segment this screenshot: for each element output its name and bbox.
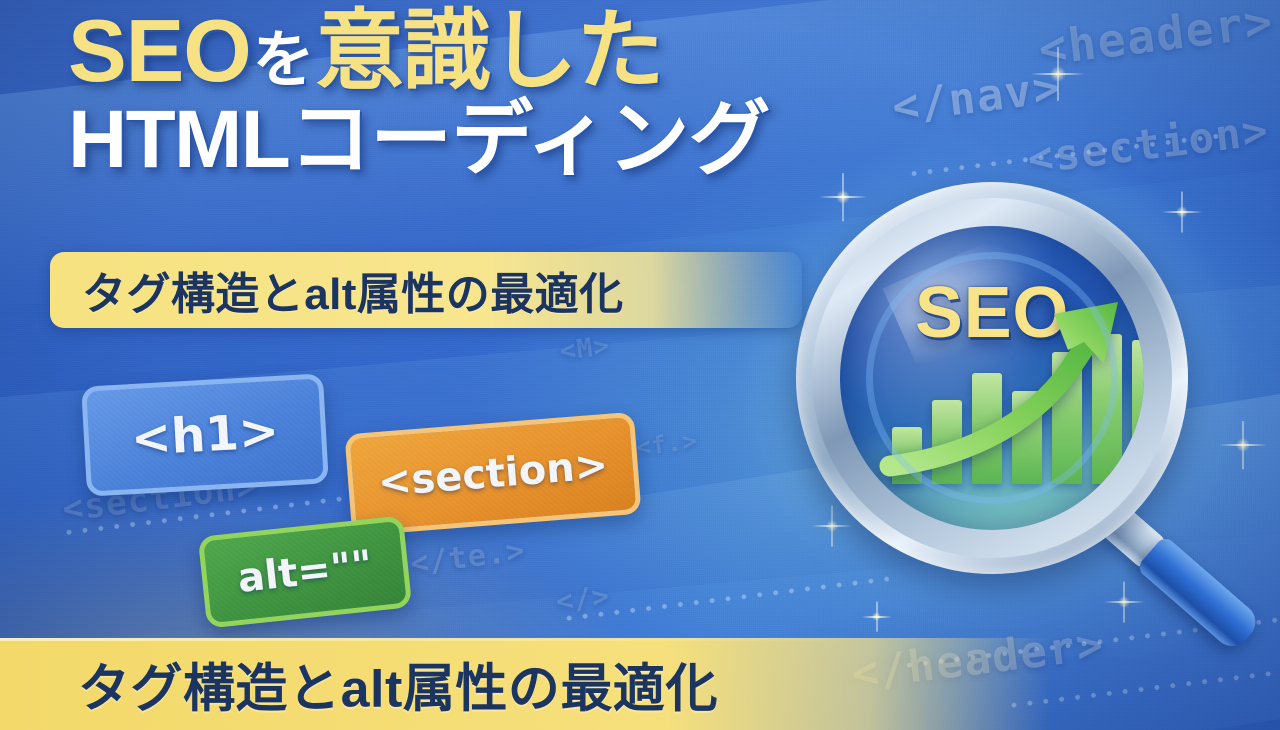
headline-line-1: SEOを意識した — [68, 8, 888, 94]
headline-line1-seo: SEO — [68, 1, 251, 100]
bottom-banner: タグ構造とalt属性の最適化 — [0, 638, 1280, 730]
tag-chip-h1-label: <h1> — [130, 403, 281, 467]
subtitle-banner: タグ構造とalt属性の最適化 — [50, 252, 802, 328]
headline-block: SEOを意識した HTMLコーディング — [68, 8, 888, 181]
bottom-banner-rule — [0, 638, 870, 641]
magnifier-inner-ring: SEO — [812, 198, 1172, 558]
tag-chip-section-label: <section> — [376, 442, 609, 506]
headline-line2-coding: コーディング — [289, 94, 769, 185]
magnifier-lens: SEO — [840, 226, 1144, 530]
headline-line2-html: HTML — [68, 94, 289, 185]
headline-line1-particle: を — [251, 26, 316, 95]
seo-thumbnail-canvas: <header> </nav> <section> </header> <sec… — [0, 0, 1280, 730]
background-code-meta: <M> — [558, 331, 611, 367]
subtitle-banner-text: タグ構造とalt属性の最適化 — [82, 258, 624, 322]
growth-arrow-icon — [886, 280, 1144, 490]
tag-chip-h1: <h1> — [81, 373, 329, 496]
lens-bar-chart — [892, 334, 1104, 484]
magnifying-glass-icon: SEO — [796, 182, 1188, 574]
bottom-banner-text: タグ構造とalt属性の最適化 — [78, 647, 718, 722]
headline-line1-rest: 意識した — [316, 1, 664, 100]
tag-chip-alt-label: alt="" — [235, 542, 374, 602]
magnifier-outer-ring: SEO — [796, 182, 1188, 574]
headline-line-2: HTMLコーディング — [68, 100, 888, 180]
